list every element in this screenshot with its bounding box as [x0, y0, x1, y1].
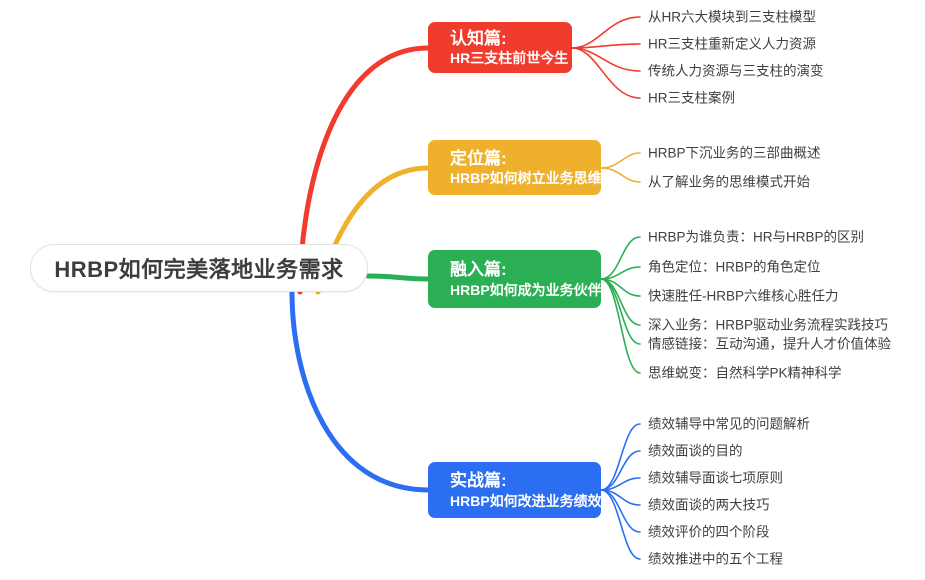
branch-title: 认知篇: [450, 28, 572, 49]
trunk-edge-2 [368, 276, 428, 279]
leaf-item[interactable]: 绩效面谈的两大技巧 [648, 498, 770, 512]
branch-node-practice[interactable]: 实战篇: HRBP如何改进业务绩效 [428, 462, 601, 518]
leaf-item[interactable]: HR三支柱案例 [648, 91, 735, 105]
leaf-item[interactable]: 从了解业务的思维模式开始 [648, 175, 810, 189]
leaf-item[interactable]: 传统人力资源与三支柱的演变 [648, 64, 824, 78]
leaf-item[interactable]: 深入业务：HRBP驱动业务流程实践技巧 [648, 318, 888, 332]
branch-node-integration[interactable]: 融入篇: HRBP如何成为业务伙伴 [428, 250, 601, 308]
leaf-item[interactable]: HRBP下沉业务的三部曲概述 [648, 146, 821, 160]
branch-title: 定位篇: [450, 148, 601, 169]
leaf-item[interactable]: 绩效面谈的目的 [648, 444, 743, 458]
branch-node-cognition[interactable]: 认知篇: HR三支柱前世今生 [428, 22, 572, 73]
branch-node-positioning[interactable]: 定位篇: HRBP如何树立业务思维 [428, 140, 601, 195]
leaf-item[interactable]: 绩效辅导中常见的问题解析 [648, 417, 810, 431]
leaf-item[interactable]: HR三支柱重新定义人力资源 [648, 37, 816, 51]
leaf-item[interactable]: HRBP为谁负责：HR与HRBP的区别 [648, 230, 864, 244]
leaf-item[interactable]: 绩效评价的四个阶段 [648, 525, 770, 539]
mindmap-canvas: HRBP如何完美落地业务需求 认知篇: HR三支柱前世今生 从HR六大模块到三支… [0, 0, 925, 580]
branch-subtitle: HRBP如何成为业务伙伴 [450, 281, 601, 299]
leaf-item[interactable]: 快速胜任-HRBP六维核心胜任力 [648, 289, 839, 303]
branch-subtitle: HRBP如何改进业务绩效 [450, 492, 601, 510]
branch-subtitle: HR三支柱前世今生 [450, 49, 572, 67]
leaf-item[interactable]: 从HR六大模块到三支柱模型 [648, 10, 816, 24]
branch-title: 融入篇: [450, 259, 601, 280]
leaf-item[interactable]: 思维蜕变：自然科学PK精神科学 [648, 366, 842, 380]
branch-title: 实战篇: [450, 470, 601, 491]
branch-subtitle: HRBP如何树立业务思维 [450, 169, 601, 187]
leaf-item[interactable]: 绩效推进中的五个工程 [648, 552, 783, 566]
root-node[interactable]: HRBP如何完美落地业务需求 [30, 244, 368, 292]
leaf-item[interactable]: 绩效辅导面谈七项原则 [648, 471, 783, 485]
trunk-edge-3 [292, 292, 428, 490]
leaf-item[interactable]: 情感链接：互动沟通，提升人才价值体验 [648, 337, 891, 351]
root-node-label: HRBP如何完美落地业务需求 [54, 252, 343, 284]
leaf-item[interactable]: 角色定位：HRBP的角色定位 [648, 260, 821, 274]
